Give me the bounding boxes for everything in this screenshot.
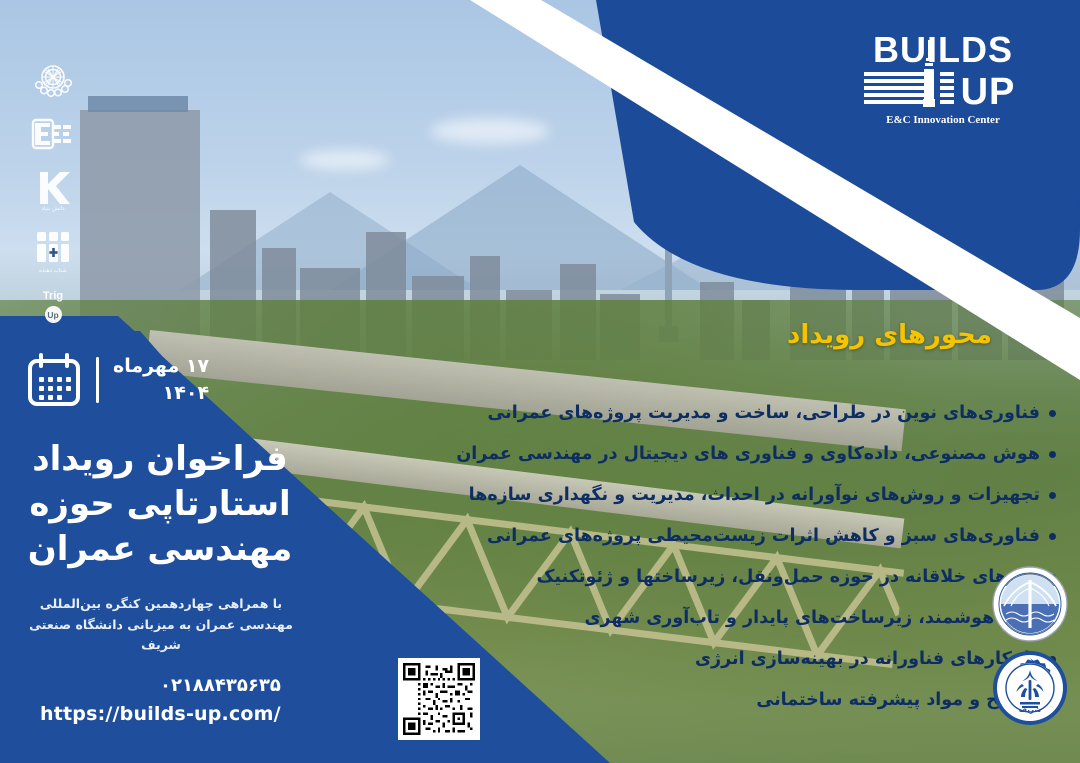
topic-item: هوش مصنوعی، داده‌کاوی و فناوری های دیجیت… <box>346 446 1056 464</box>
cee-logo <box>31 118 75 152</box>
svg-text:UP: UP <box>961 71 1016 113</box>
contact-phone[interactable]: ۰۲۱۸۸۴۳۵۶۳۵ <box>40 672 281 699</box>
topic-label: ایده‌های خلاقانه در حوزه حمل‌ونقل، زیرسا… <box>537 569 1040 587</box>
brand-logo: BUILDS <box>848 28 1038 128</box>
svg-text:BUILDS: BUILDS <box>873 29 1013 70</box>
sponsor-logo-strip: دانش بنیاد شتاب دهنده Trig <box>22 58 84 323</box>
bullet-icon <box>1049 410 1056 417</box>
subtitle-line-2: مهندسی عمران به میزبانی دانشگاه صنعتی شر… <box>16 615 306 656</box>
event-date-block: ۱۷ مهرماه ۱۴۰۴ <box>26 352 209 408</box>
topic-item: فناوری‌های سبز و کاهش اثرات زیست‌محیطی پ… <box>346 528 1056 546</box>
subtitle-line-1: با همراهی چهاردهمین کنگره بین‌المللی <box>16 594 306 615</box>
event-poster: BUILDS <box>0 0 1080 763</box>
topic-item: فناوری‌های نوین در طراحی، ساخت و مدیریت … <box>346 405 1056 423</box>
topic-item: شهر هوشمند، زیرساخت‌های پایدار و تاب‌آور… <box>346 610 1056 628</box>
bullet-icon <box>1049 451 1056 458</box>
partner-logo-group: شریف <box>992 566 1068 726</box>
bullet-icon <box>1049 492 1056 499</box>
topic-label: هوش مصنوعی، داده‌کاوی و فناوری های دیجیت… <box>456 446 1040 464</box>
calendar-icon <box>26 352 82 408</box>
topic-item: ایده‌های خلاقانه در حوزه حمل‌ونقل، زیرسا… <box>346 569 1056 587</box>
event-date-day: ۱۷ مهرماه <box>113 353 209 380</box>
trig-up-logo: Trig Up <box>31 290 75 323</box>
topic-item: مصالح و مواد پیشرفته ساختمانی <box>346 692 1056 710</box>
topics-heading: محورهای رویداد <box>787 320 992 350</box>
topic-label: راهکارهای فناورانه در بهینه‌سازی انرژی <box>695 651 1040 669</box>
building-logo-caption: شتاب دهنده <box>39 268 67 274</box>
builds-up-tower-logo: BUILDS <box>848 28 1038 128</box>
trig-up-badge: Up <box>45 306 62 323</box>
poster-title: فراخوان رویداد استارتاپی حوزه مهندسی عمر… <box>16 437 304 572</box>
svg-text:شریف: شریف <box>1019 706 1041 714</box>
contact-block: ۰۲۱۸۸۴۳۵۶۳۵ https://builds-up.com/ <box>40 672 281 729</box>
building-grid-logo: شتاب دهنده <box>31 228 75 274</box>
k-letter-logo: دانش بنیاد <box>31 168 75 212</box>
university-seal-logo <box>31 58 75 102</box>
topic-label: شهر هوشمند، زیرساخت‌های پایدار و تاب‌آور… <box>584 610 1040 628</box>
event-date-year: ۱۴۰۴ <box>113 380 209 407</box>
brand-tagline: E&C Innovation Center <box>886 114 1000 126</box>
topic-item: راهکارهای فناورانه در بهینه‌سازی انرژی <box>346 651 1056 669</box>
topic-label: فناوری‌های نوین در طراحی، ساخت و مدیریت … <box>487 405 1040 423</box>
topic-label: تجهیزات و روش‌های نوآورانه در احداث، مدی… <box>469 487 1040 505</box>
topic-label: فناوری‌های سبز و کاهش اثرات زیست‌محیطی پ… <box>487 528 1040 546</box>
k-logo-caption: دانش بنیاد <box>41 206 64 212</box>
event-date-text: ۱۷ مهرماه ۱۴۰۴ <box>113 353 209 406</box>
contact-website[interactable]: https://builds-up.com/ <box>40 699 281 729</box>
trig-up-wordmark: Trig <box>43 290 63 302</box>
poster-subtitle: با همراهی چهاردهمین کنگره بین‌المللی مهن… <box>16 594 306 656</box>
date-divider <box>96 357 99 403</box>
civil-engineering-congress-logo <box>992 566 1068 642</box>
sharif-university-logo: شریف <box>992 650 1068 726</box>
topic-item: تجهیزات و روش‌های نوآورانه در احداث، مدی… <box>346 487 1056 505</box>
topics-list: فناوری‌های نوین در طراحی، ساخت و مدیریت … <box>346 405 1056 733</box>
bullet-icon <box>1049 533 1056 540</box>
